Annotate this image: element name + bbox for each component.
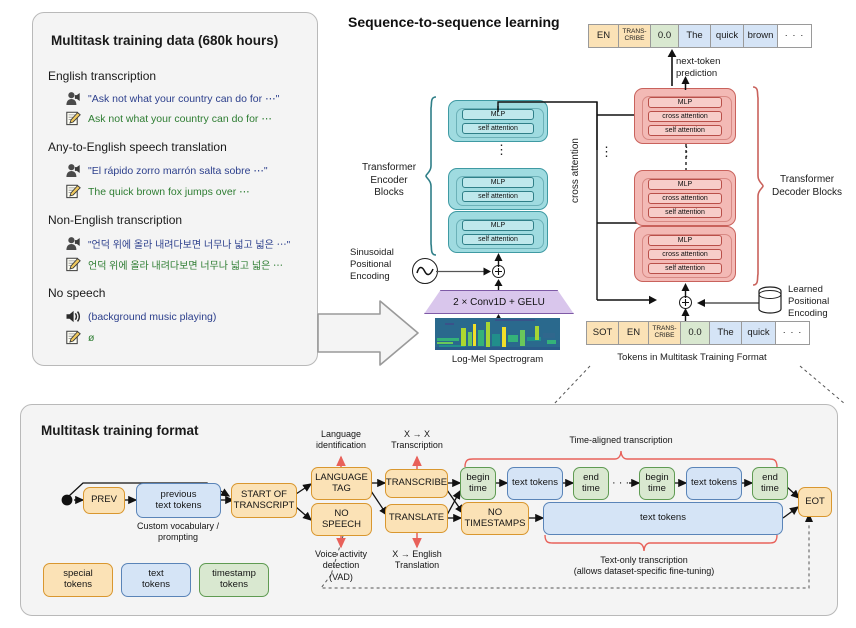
legend-text-tokens: text tokens [121, 563, 191, 597]
annotation-custom-vocabulary: Custom vocabulary / prompting [125, 521, 231, 544]
node-end-time-1[interactable]: end time [573, 467, 609, 500]
legend-special-tokens: special tokens [43, 563, 113, 597]
node-previous-text-tokens[interactable]: previous text tokens [136, 483, 221, 518]
tokens-to-plus-arrow [678, 308, 694, 322]
node-begin-time-1[interactable]: begin time [460, 467, 496, 500]
multitask-training-data-panel: Multitask training data (680k hours) Eng… [32, 12, 318, 366]
figure-root: Multitask training data (680k hours) Eng… [0, 0, 856, 628]
node-text-tokens-1[interactable]: text tokens [507, 467, 563, 500]
annotation-text-only-transcription: Text-only transcription (allows dataset-… [544, 555, 744, 578]
node-eot[interactable]: EOT [798, 487, 832, 517]
node-text-tokens-long[interactable]: text tokens [543, 502, 783, 535]
example-row: The quick brown fox jumps over ⋯ [65, 184, 250, 199]
node-begin-time-2[interactable]: begin time [639, 467, 675, 500]
decoder-block-middle: MLP cross attention self attention [634, 170, 736, 226]
note-pencil-icon [65, 257, 82, 272]
annotation-x-to-x-transcription: X → X Transcription [373, 429, 461, 452]
example-transcript-text: The quick brown fox jumps over ⋯ [88, 186, 250, 198]
token-the: The [679, 25, 711, 47]
conv1d-gelu-label: 2 × Conv1D + GELU [453, 297, 545, 308]
node-prev[interactable]: PREV [83, 487, 125, 514]
sinusoidal-positional-encoding-label: Sinusoidal Positional Encoding [350, 247, 410, 283]
token-brown: brown [744, 25, 778, 47]
section-heading-speech-translation: Any-to-English speech translation [48, 140, 227, 154]
section-heading-non-english-transcription: Non-English transcription [48, 213, 182, 227]
token-ellipsis: · · · [776, 322, 809, 344]
note-pencil-icon [65, 111, 82, 126]
note-pencil-icon [65, 184, 82, 199]
cross-attention-label: cross attention [570, 138, 581, 203]
output-token-strip: EN TRANS- CRIBE 0.0 The quick brown · · … [588, 24, 812, 48]
token-quick: quick [711, 25, 744, 47]
section-heading-no-speech: No speech [48, 286, 105, 300]
conv-to-plus-arrow [491, 279, 507, 291]
loudspeaker-icon [65, 309, 82, 324]
seq2seq-title: Sequence-to-sequence learning [348, 14, 560, 30]
speaker-person-icon [65, 91, 82, 106]
conv1d-gelu-block: 2 × Conv1D + GELU [424, 290, 574, 314]
decoder-block-top: MLP cross attention self attention [634, 88, 736, 144]
token-en: EN [589, 25, 619, 47]
decoder-mlp: MLP [648, 235, 722, 246]
decoder-bracket [752, 86, 764, 286]
decoder-stack-dashes [684, 144, 688, 170]
multitask-training-format-panel: Multitask training format [20, 404, 838, 616]
encoder-bracket-label: Transformer Encoder Blocks [356, 162, 422, 200]
learned-pe-arrow [693, 296, 759, 310]
example-transcript-text: ø [88, 332, 94, 344]
example-row: "El rápido zorro marrón salta sobre ⋯" [65, 163, 268, 178]
example-transcript-text: 언덕 위에 올라 내려다보면 너무나 넓고 넓은 ⋯ [88, 257, 283, 272]
annotation-time-aligned-transcription: Time-aligned transcription [521, 435, 721, 446]
decoder-block-bottom: MLP cross attention self attention [634, 226, 736, 282]
token-transcribe: TRANS- CRIBE [649, 322, 681, 344]
decoder-mlp: MLP [648, 97, 722, 108]
encoder-bracket [425, 96, 437, 256]
decoder-cross-attention: cross attention [648, 193, 722, 204]
token-the: The [710, 322, 742, 344]
node-start-of-transcript[interactable]: START OF TRANSCRIPT [231, 483, 297, 518]
token-timestamp-0: 0.0 [651, 25, 679, 47]
node-ellipsis: · · · [612, 477, 629, 489]
example-row: (background music playing) [65, 309, 216, 324]
node-language-tag[interactable]: LANGUAGE TAG [311, 467, 372, 500]
example-audio-text: "El rápido zorro marrón salta sobre ⋯" [88, 165, 268, 177]
node-translate[interactable]: TRANSLATE [385, 504, 448, 533]
speaker-person-icon [65, 236, 82, 251]
decoder-cross-attention: cross attention [648, 249, 722, 260]
log-mel-spectrogram-image [435, 318, 560, 350]
token-timestamp-0: 0.0 [681, 322, 710, 344]
example-row: "Ask not what your country can do for ⋯" [65, 91, 279, 106]
plus-to-encoder-arrow [491, 253, 507, 267]
node-transcribe[interactable]: TRANSCRIBE [385, 469, 448, 498]
speaker-person-icon [65, 163, 82, 178]
decoder-self-attention: self attention [648, 263, 722, 274]
panel-connector-lines [300, 350, 856, 410]
token-quick: quick [742, 322, 776, 344]
example-row: "언덕 위에 올라 내려다보면 너무나 넓고 넓은 ⋯" [65, 236, 290, 251]
token-ellipsis: · · · [778, 25, 811, 47]
sine-wave-icon [412, 258, 438, 284]
example-audio-text: (background music playing) [88, 311, 216, 323]
decoder-output-arrow [678, 76, 694, 90]
input-token-strip: SOT EN TRANS- CRIBE 0.0 The quick · · · [586, 321, 810, 345]
sinusoid-to-plus-arrow [436, 264, 494, 280]
decoder-cross-attention: cross attention [648, 111, 722, 122]
node-end-time-2[interactable]: end time [752, 467, 788, 500]
annotation-x-to-english-translation: X → English Translation [369, 549, 465, 572]
decoder-bracket-label: Transformer Decoder Blocks [766, 174, 848, 199]
token-sot: SOT [587, 322, 619, 344]
example-row: 언덕 위에 올라 내려다보면 너무나 넓고 넓은 ⋯ [65, 257, 283, 272]
decoder-self-attention: self attention [648, 125, 722, 136]
example-audio-text: "언덕 위에 올라 내려다보면 너무나 넓고 넓은 ⋯" [88, 236, 290, 251]
section-heading-english-transcription: English transcription [48, 69, 156, 83]
example-audio-text: "Ask not what your country can do for ⋯" [88, 93, 279, 105]
node-no-speech[interactable]: NO SPEECH [311, 503, 372, 536]
example-row: Ask not what your country can do for ⋯ [65, 111, 272, 126]
token-en: EN [619, 322, 649, 344]
cross-attention-vertical-dots: ⋮ [600, 150, 613, 154]
left-panel-title: Multitask training data (680k hours) [51, 33, 278, 48]
example-transcript-text: Ask not what your country can do for ⋯ [88, 113, 272, 125]
learned-positional-encoding-label: Learned Positional Encoding [788, 284, 829, 320]
decoder-self-attention: self attention [648, 207, 722, 218]
legend-timestamp-tokens: timestamp tokens [199, 563, 269, 597]
example-row: ø [65, 330, 94, 345]
node-no-timestamps[interactable]: NO TIMESTAMPS [461, 502, 529, 535]
node-text-tokens-2[interactable]: text tokens [686, 467, 742, 500]
database-cylinder-icon [757, 286, 783, 316]
plus-to-decoder-arrow [678, 283, 694, 298]
note-pencil-icon [65, 330, 82, 345]
decoder-mlp: MLP [648, 179, 722, 190]
token-transcribe: TRANS- CRIBE [619, 25, 651, 47]
